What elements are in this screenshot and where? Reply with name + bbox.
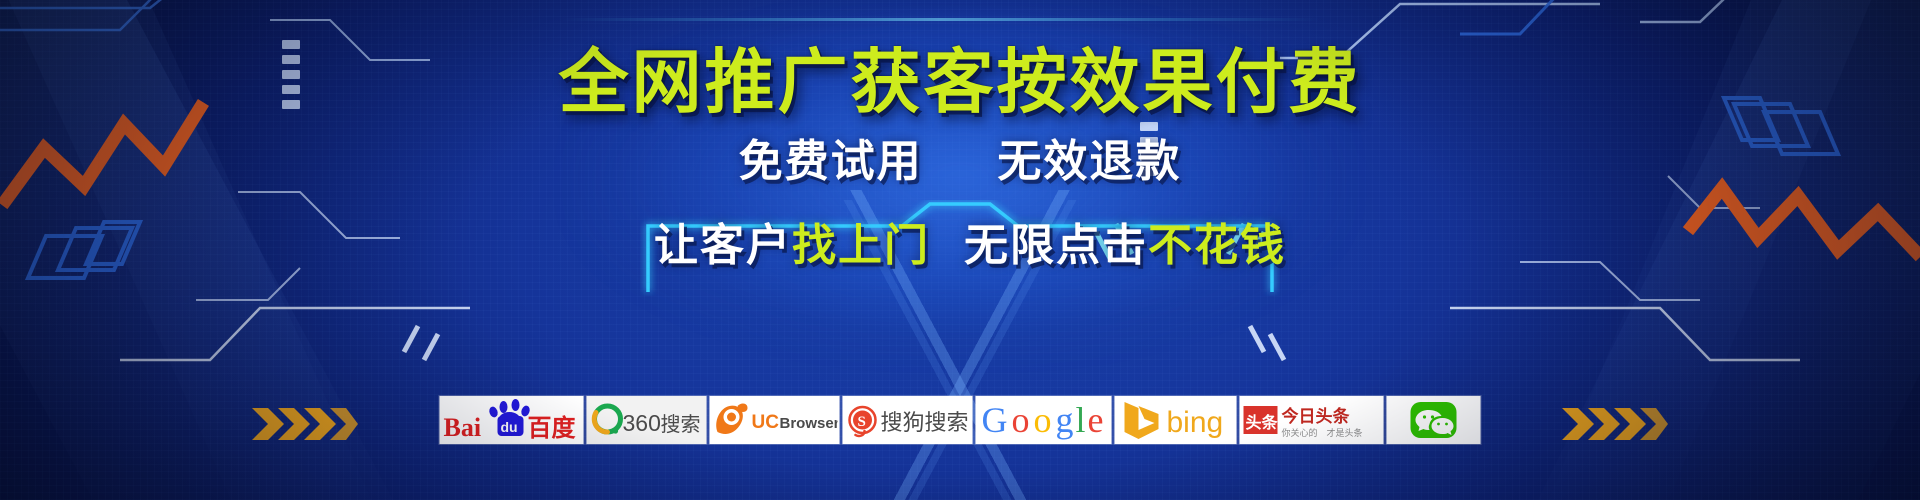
- promo-banner: 全网推广获客按效果付费 免费试用 无效退款 让客户找上门无限点击不花钱: [0, 0, 1920, 500]
- vignette-overlay: [0, 0, 1920, 500]
